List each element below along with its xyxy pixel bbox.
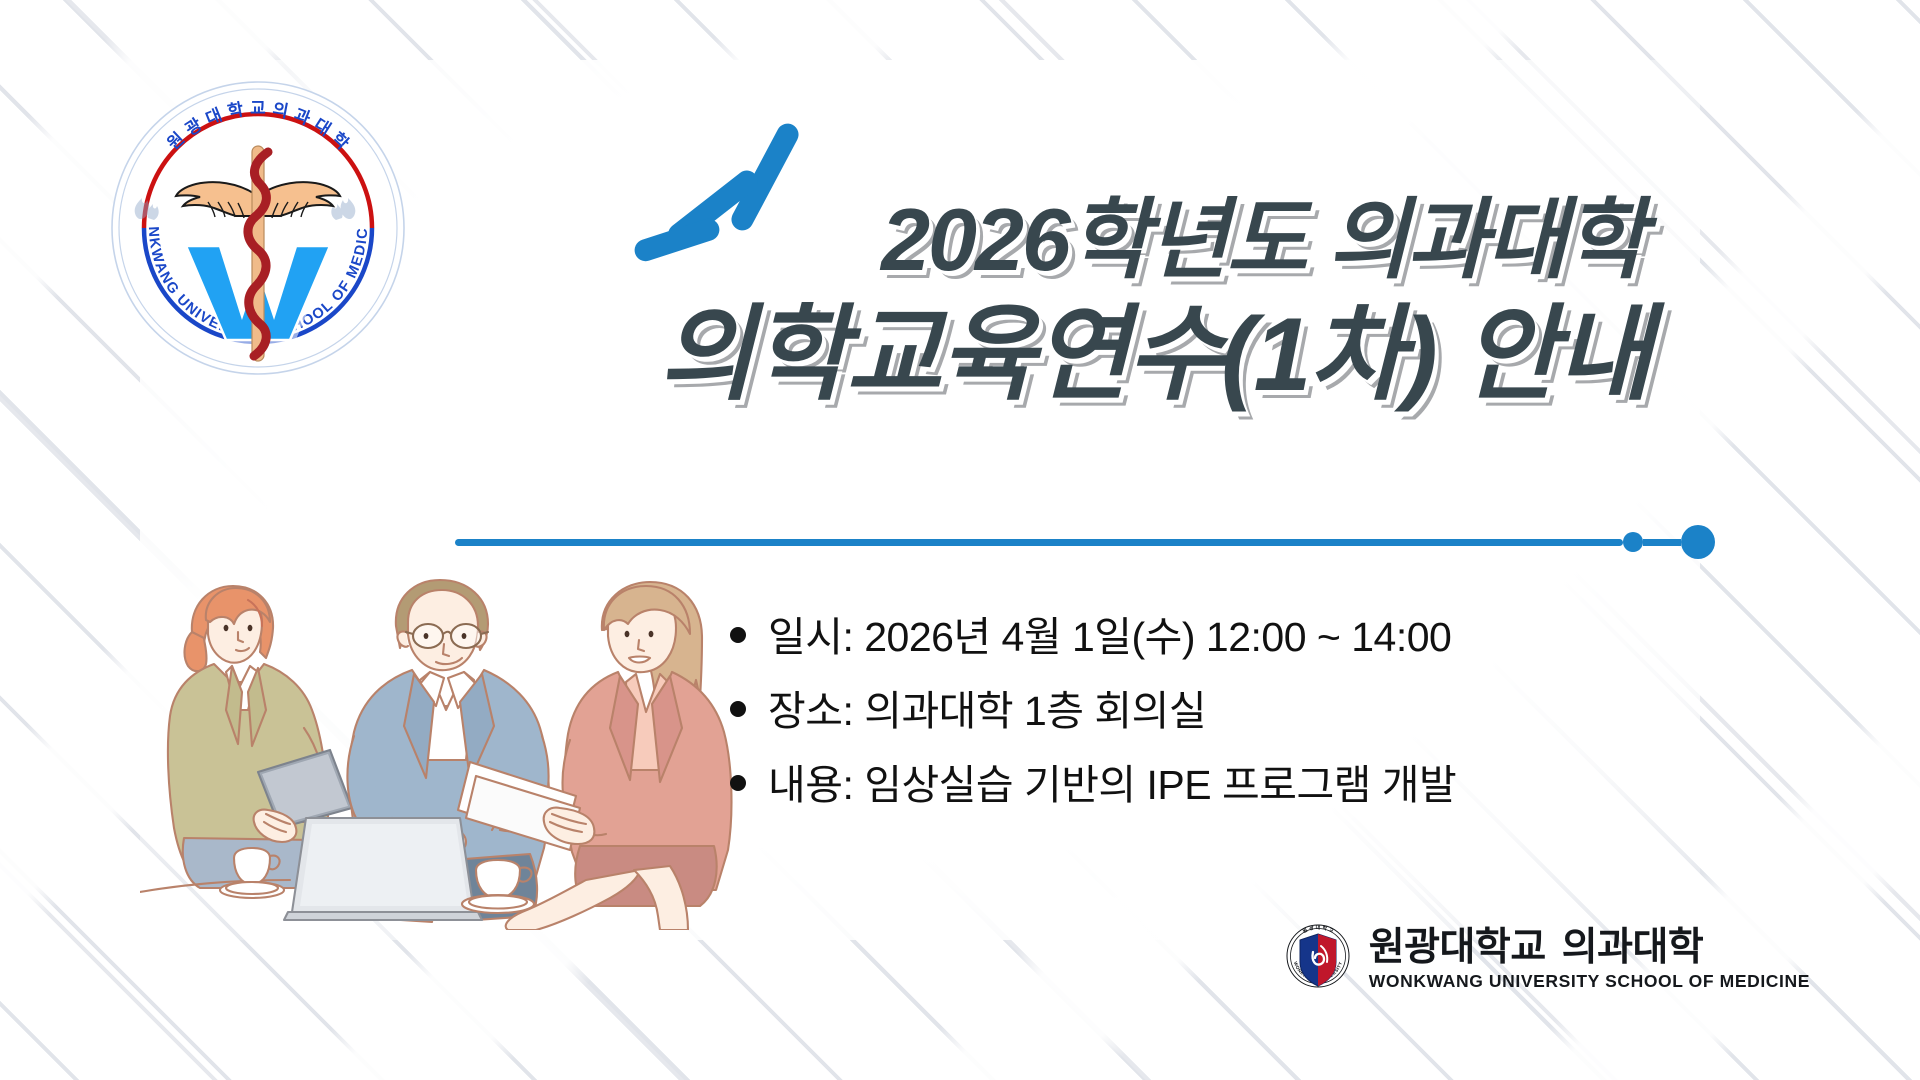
bullet-icon <box>730 775 746 791</box>
laptop <box>284 818 482 920</box>
list-item: 내용: 임상실습 기반의 IPE 프로그램 개발 <box>730 760 1456 810</box>
bullet-icon <box>730 701 746 717</box>
detail-text-date: 일시: 2026년 4월 1일(수) 12:00 ~ 14:00 <box>768 612 1451 662</box>
poster-slide: 원 광 대 학 교 의 과 대 학 WONKWANG UNIVERSITY SC… <box>0 0 1920 1080</box>
list-item: 일시: 2026년 4월 1일(수) 12:00 ~ 14:00 <box>730 612 1456 662</box>
footer-brand-text: 원광대학교의과대학 WONKWANG UNIVERSITY SCHOOL OF … <box>1369 926 1810 992</box>
headline-line-2: 의학교육연수(1차) 안내 <box>0 294 1650 416</box>
divider <box>455 525 1715 559</box>
detail-text-location: 장소: 의과대학 1층 회의실 <box>768 686 1206 736</box>
divider-small-dot <box>1623 532 1643 552</box>
headline-line-1: 2026학년도 의과대학 <box>0 186 1650 294</box>
divider-line <box>455 539 1623 546</box>
list-item: 장소: 의과대학 1층 회의실 <box>730 686 1456 736</box>
footer-korean-name: 원광대학교의과대학 <box>1369 926 1810 970</box>
bullet-icon <box>730 627 746 643</box>
footer-english-name: WONKWANG UNIVERSITY SCHOOL OF MEDICINE <box>1369 970 1810 992</box>
three-people-meeting-illustration <box>140 560 740 930</box>
detail-text-content: 내용: 임상실습 기반의 IPE 프로그램 개발 <box>768 760 1456 810</box>
footer-brand: 원 광 대 학 교 WONKWANG UNIVERSITY 원광대학교의과대학 … <box>1283 920 1810 998</box>
divider-segment <box>1643 539 1681 546</box>
wonkwang-university-shield-icon: 원 광 대 학 교 WONKWANG UNIVERSITY <box>1283 920 1353 998</box>
event-details-list: 일시: 2026년 4월 1일(수) 12:00 ~ 14:00 장소: 의과대… <box>730 612 1456 834</box>
divider-large-dot <box>1681 525 1715 559</box>
poster-headline: 2026학년도 의과대학 의학교육연수(1차) 안내 <box>0 186 1800 416</box>
